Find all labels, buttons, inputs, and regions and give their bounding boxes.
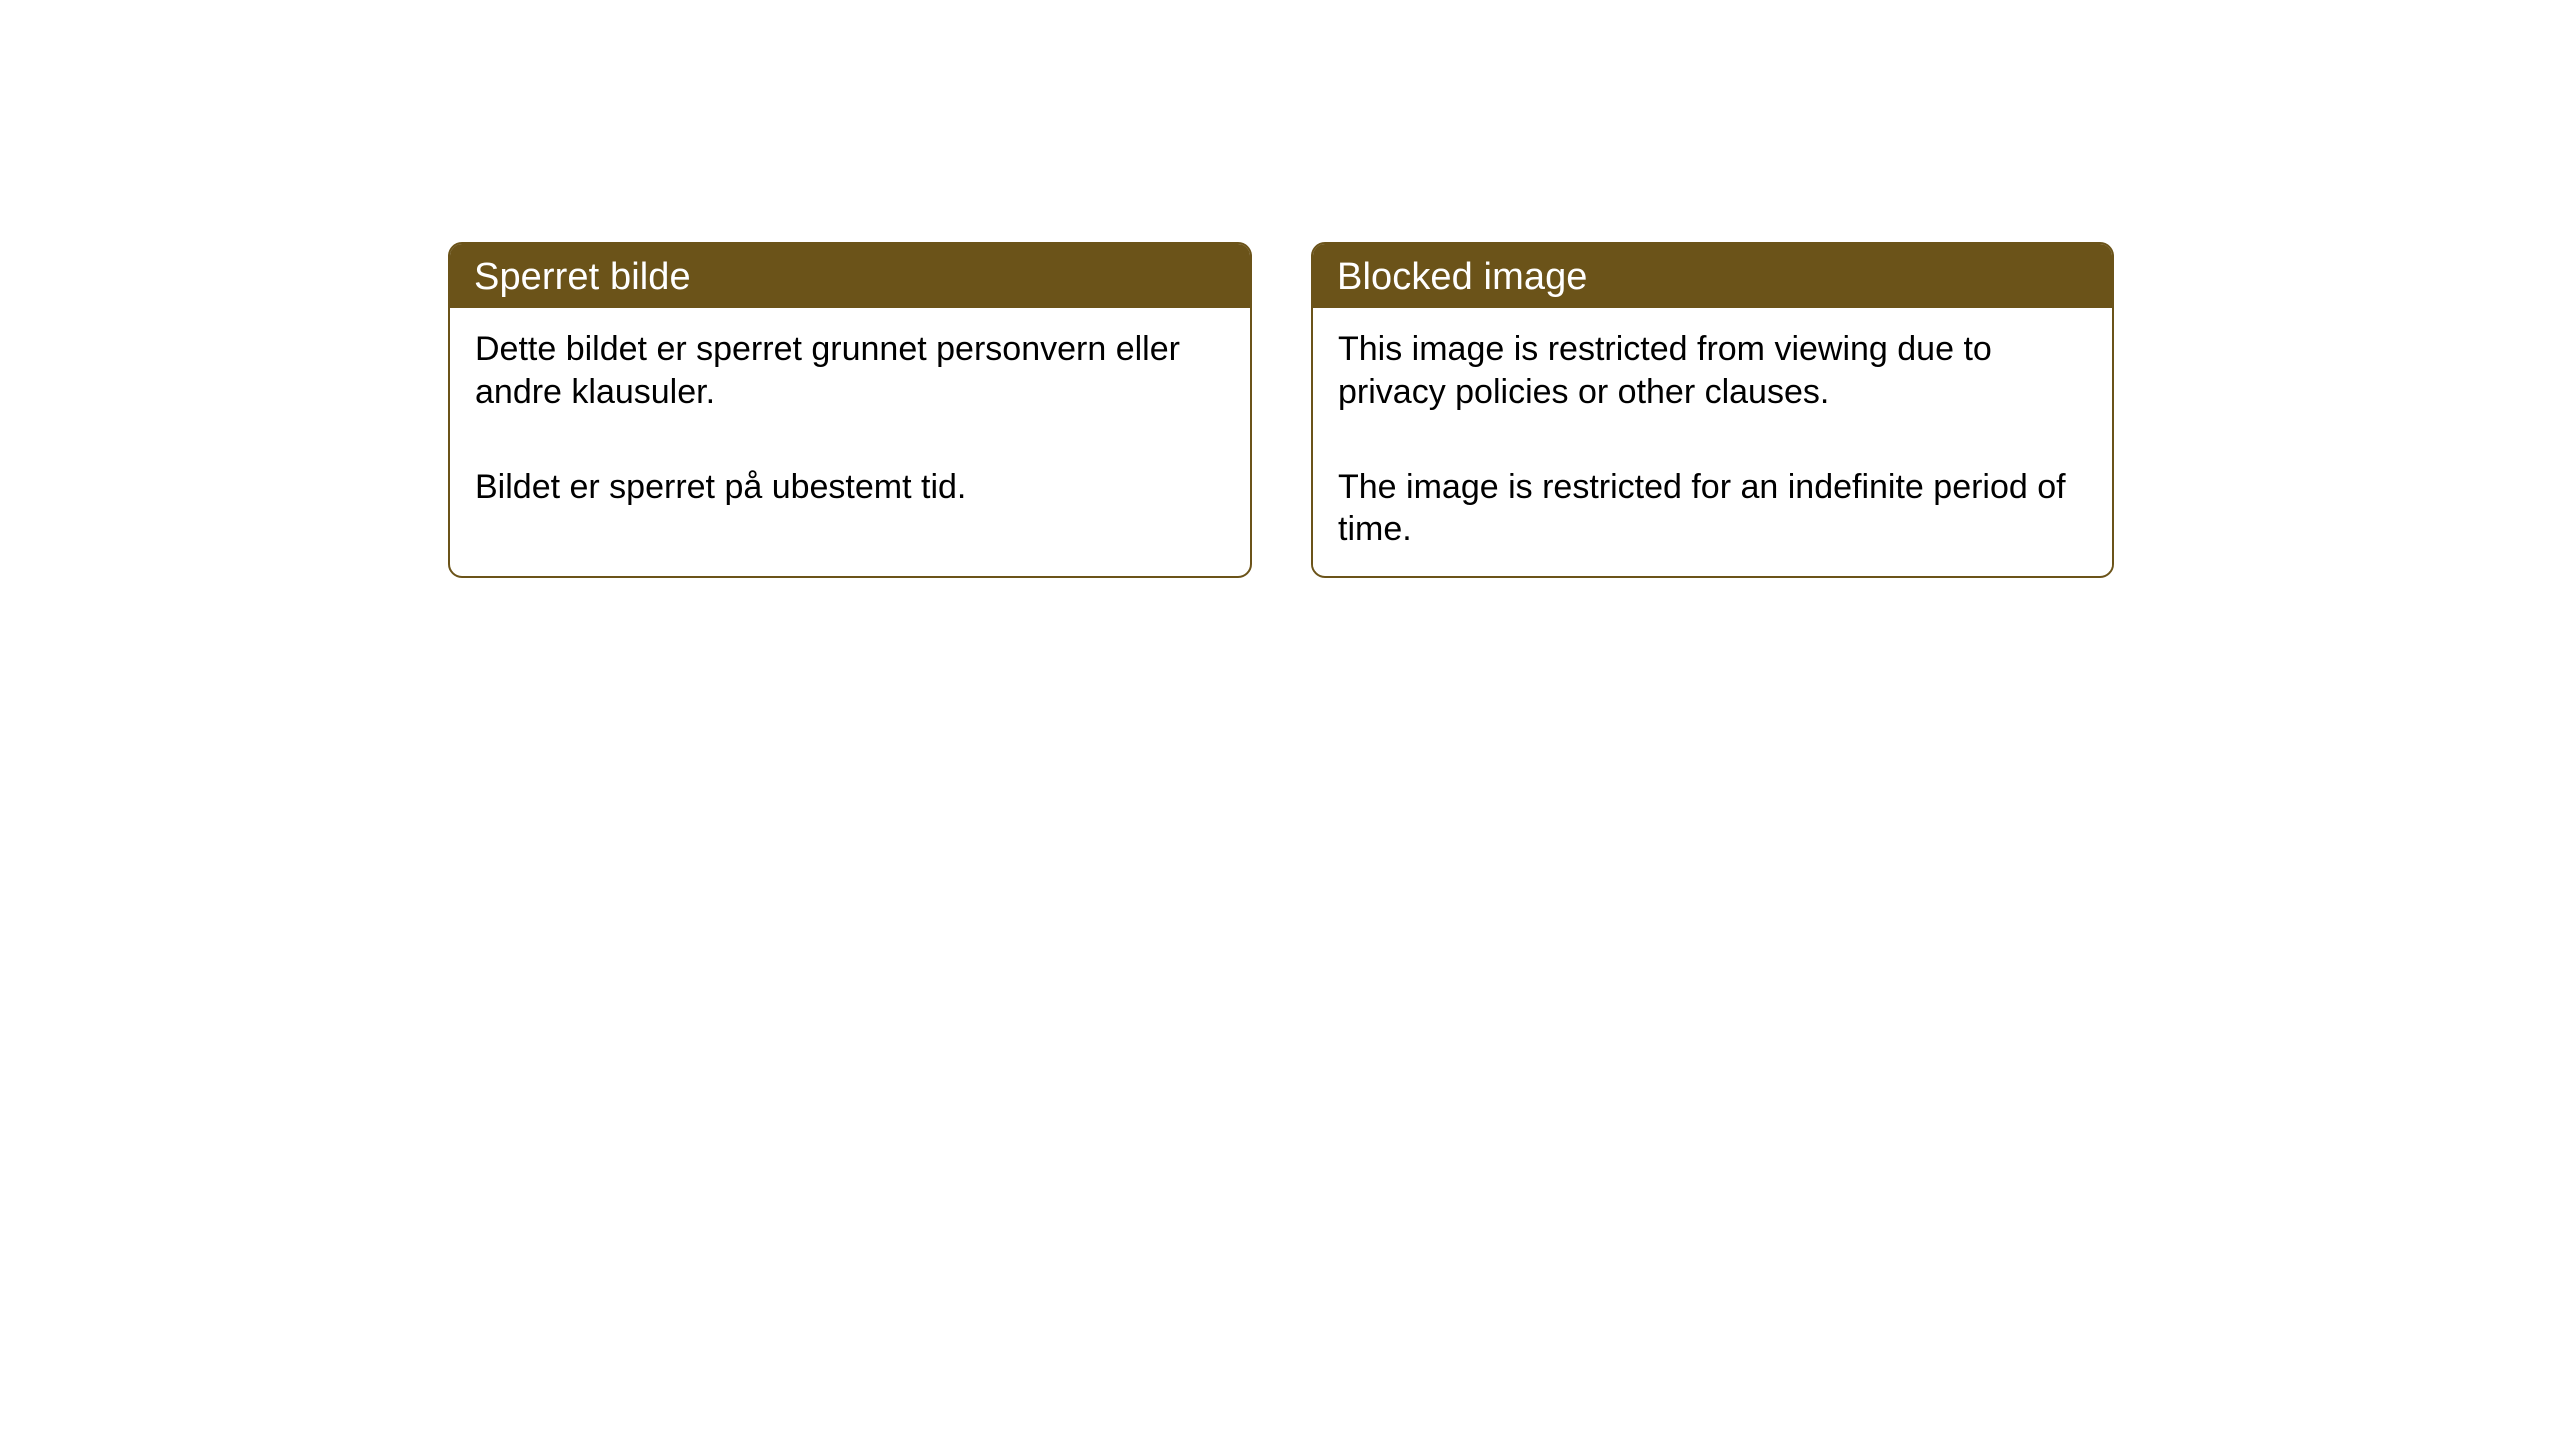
blocked-image-card-norwegian: Sperret bilde Dette bildet er sperret gr… bbox=[448, 242, 1252, 578]
card-title-norwegian: Sperret bilde bbox=[450, 244, 1250, 308]
card-paragraph-privacy-no: Dette bildet er sperret grunnet personve… bbox=[475, 328, 1230, 414]
card-title-english: Blocked image bbox=[1313, 244, 2112, 308]
card-body-norwegian: Dette bildet er sperret grunnet personve… bbox=[450, 308, 1250, 528]
card-paragraph-duration-no: Bildet er sperret på ubestemt tid. bbox=[475, 466, 1230, 509]
card-paragraph-duration-en: The image is restricted for an indefinit… bbox=[1338, 466, 2092, 552]
blocked-image-card-english: Blocked image This image is restricted f… bbox=[1311, 242, 2114, 578]
card-paragraph-privacy-en: This image is restricted from viewing du… bbox=[1338, 328, 2092, 414]
card-body-english: This image is restricted from viewing du… bbox=[1313, 308, 2112, 571]
page-canvas: Sperret bilde Dette bildet er sperret gr… bbox=[0, 0, 2560, 1440]
